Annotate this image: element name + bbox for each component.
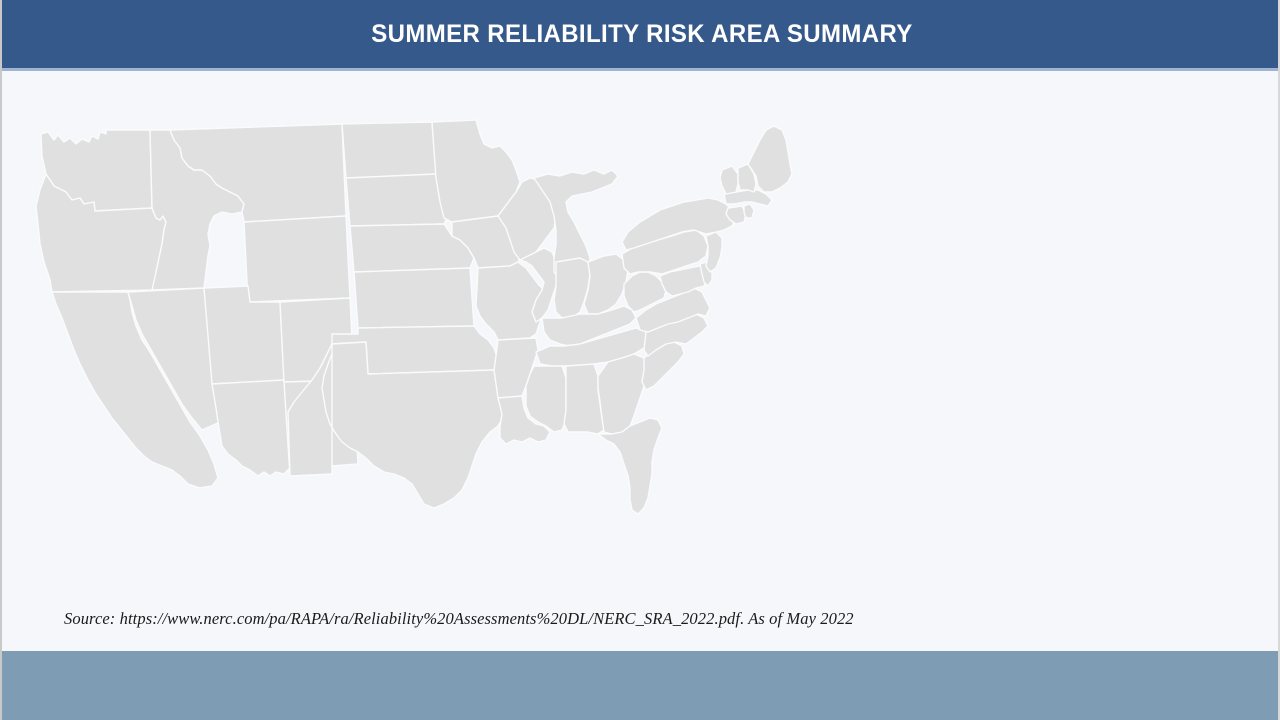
- state-alabama: [564, 364, 604, 434]
- header-underline-divider: [2, 68, 1280, 71]
- us-map-svg: [32, 112, 832, 582]
- state-kansas: [354, 268, 474, 328]
- state-arizona: [212, 380, 290, 476]
- state-ohio: [584, 254, 628, 314]
- state-rhode-island: [744, 204, 754, 218]
- slide-root: SUMMER RELIABILITY RISK AREA SUMMARY: [0, 0, 1280, 720]
- state-south-dakota: [346, 174, 448, 226]
- state-indiana: [554, 258, 590, 318]
- us-risk-map: [32, 112, 832, 582]
- header-bar: SUMMER RELIABILITY RISK AREA SUMMARY: [2, 0, 1280, 68]
- source-citation: Source: https://www.nerc.com/pa/RAPA/ra/…: [64, 609, 854, 629]
- state-shapes: [36, 120, 792, 514]
- state-new-jersey: [706, 232, 722, 272]
- state-wyoming: [244, 216, 350, 302]
- footer-bar: LOOMIS SAYLES: [2, 651, 1280, 720]
- page-title: SUMMER RELIABILITY RISK AREA SUMMARY: [371, 20, 912, 49]
- state-north-dakota: [342, 122, 436, 178]
- state-vermont: [720, 166, 738, 194]
